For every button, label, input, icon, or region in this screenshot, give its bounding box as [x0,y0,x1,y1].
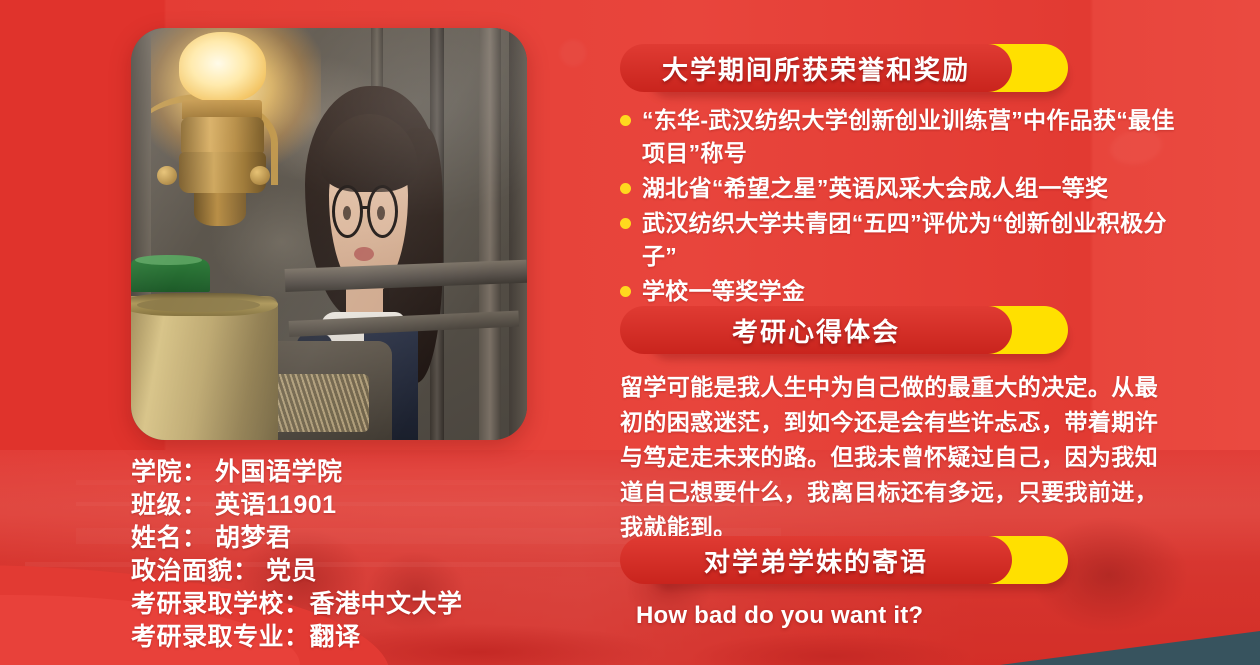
glasses-bridge [360,206,369,209]
photo-scene [131,28,527,440]
section-header-honors: 大学期间所获荣誉和奖励 [620,44,1068,92]
person-lips [354,247,374,261]
list-item: “东华-武汉纺织大学创新创业训练营”中作品获“最佳项目”称号 [620,104,1180,170]
lamp-globe-icon [179,32,266,102]
pill-red-body: 考研心得体会 [620,306,1012,354]
honor-item-4: 学校一等奖学金 [642,275,805,308]
section-title-experience: 考研心得体会 [732,312,900,349]
list-item: 湖北省“希望之星”英语风采大会成人组一等奖 [620,172,1180,205]
honor-item-3: 武汉纺织大学共青团“五四”评优为“创新创业积极分子” [642,207,1180,273]
info-line-political: 政治面貌： 党员 [131,555,651,588]
honors-list: “东华-武汉纺织大学创新创业训练营”中作品获“最佳项目”称号 湖北省“希望之星”… [620,104,1180,308]
bullet-dot-icon [620,115,631,126]
profile-photo [131,28,527,440]
section-experience: 考研心得体会 留学可能是我人生中为自己做的最重大的决定。从最初的困惑迷茫，到如今… [620,306,1158,545]
message-quote: How bad do you want it? [636,602,1068,630]
glasses-icon [367,185,398,238]
bullet-dot-icon [620,286,631,297]
lamp-base [194,193,245,226]
info-line-class: 班级： 英语11901 [131,489,651,522]
right-column: 大学期间所获荣誉和奖励 “东华-武汉纺织大学创新创业训练营”中作品获“最佳项目”… [620,0,1220,665]
section-title-message: 对学弟学妹的寄语 [704,542,928,579]
lamp-knob [157,166,177,185]
poster-root: 学院： 外国语学院 班级： 英语11901 姓名： 胡梦君 政治面貌： 党员 考… [0,0,1260,665]
section-header-message: 对学弟学妹的寄语 [620,536,1068,584]
glasses-icon [332,185,363,238]
honor-item-2: 湖北省“希望之星”英语风采大会成人组一等奖 [642,172,1108,205]
section-honors: 大学期间所获荣誉和奖励 “东华-武汉纺织大学创新创业训练营”中作品获“最佳项目”… [620,44,1180,310]
honor-item-1: “东华-武汉纺织大学创新创业训练营”中作品获“最佳项目”称号 [642,104,1180,170]
background-blob [560,40,586,66]
profile-info-block: 学院： 外国语学院 班级： 英语11901 姓名： 胡梦君 政治面貌： 党员 考… [131,456,651,654]
brass-pot [131,296,278,440]
info-line-name: 姓名： 胡梦君 [131,522,651,555]
info-line-college: 学院： 外国语学院 [131,456,651,489]
section-message: 对学弟学妹的寄语 How bad do you want it? [620,536,1068,630]
list-item: 武汉纺织大学共青团“五四”评优为“创新创业积极分子” [620,207,1180,273]
section-title-honors: 大学期间所获荣誉和奖励 [662,50,970,87]
experience-paragraph: 留学可能是我人生中为自己做的最重大的决定。从最初的困惑迷茫，到如今还是会有些许忐… [620,370,1158,545]
bullet-dot-icon [620,218,631,229]
bullet-dot-icon [620,183,631,194]
lamp-knob [250,166,270,185]
section-header-experience: 考研心得体会 [620,306,1068,354]
window-frame-column [509,28,527,440]
pill-red-body: 大学期间所获荣誉和奖励 [620,44,1012,92]
window-frame-column [479,28,501,440]
lamp-collar [182,100,261,119]
info-line-major: 考研录取专业：翻译 [131,621,651,654]
list-item: 学校一等奖学金 [620,275,1180,308]
photo-straw [266,374,369,432]
info-line-school: 考研录取学校：香港中文大学 [131,588,651,621]
pill-red-body: 对学弟学妹的寄语 [620,536,1012,584]
lamp-body [181,117,264,154]
